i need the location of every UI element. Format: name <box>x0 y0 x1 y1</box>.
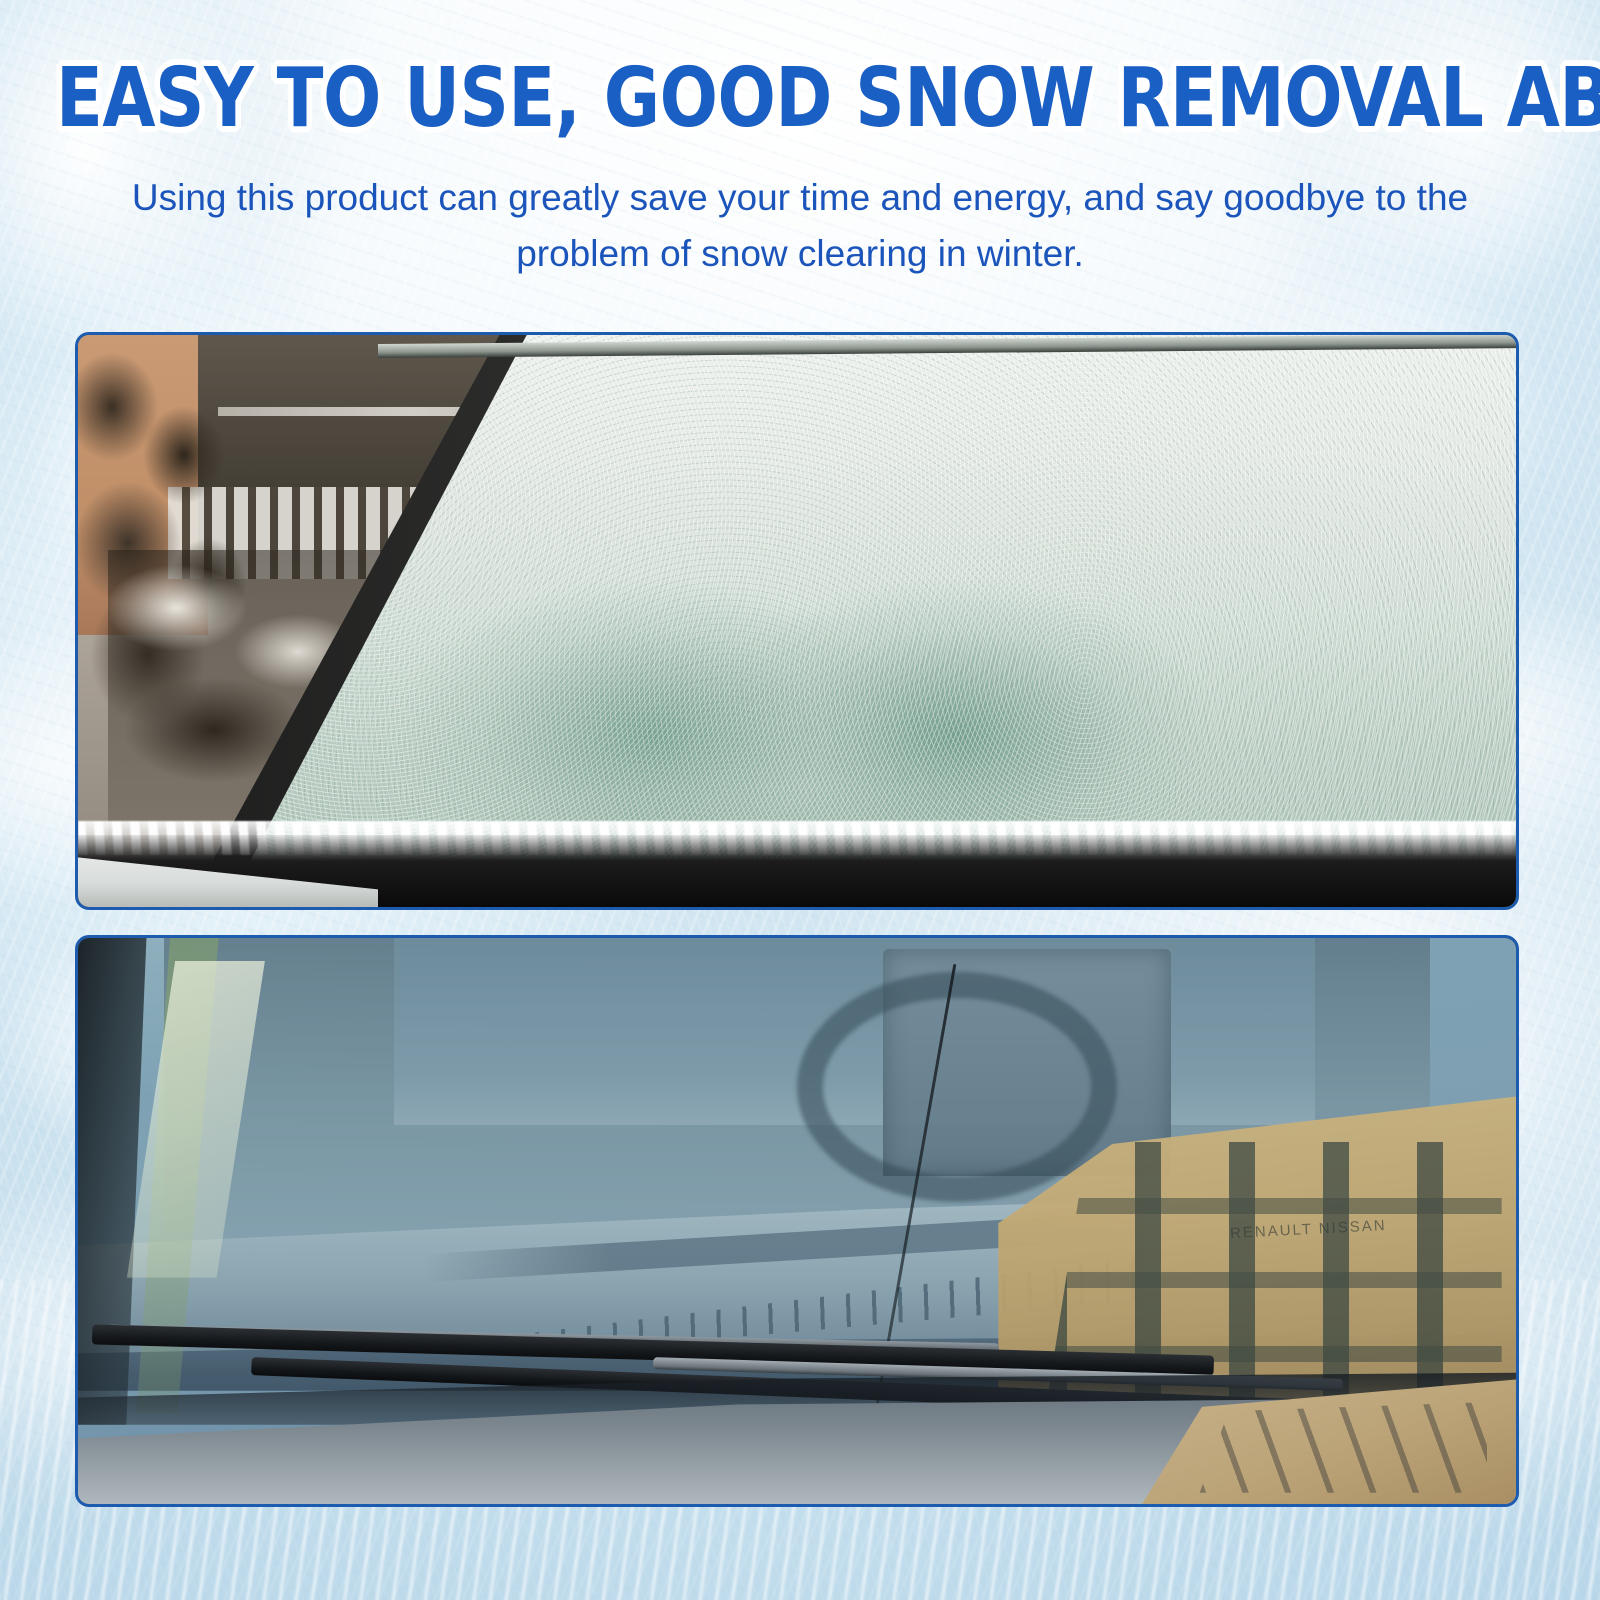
header: EASY TO USE, GOOD SNOW REMOVAL ABILITY U… <box>0 56 1600 282</box>
page-subtitle-line-1: Using this product can greatly save your… <box>132 177 1468 218</box>
promo-page: EASY TO USE, GOOD SNOW REMOVAL ABILITY U… <box>0 0 1600 1600</box>
page-subtitle: Using this product can greatly save your… <box>85 170 1515 282</box>
photo-steering-wheel <box>797 972 1117 1202</box>
photo-clear-windshield: RENAULT NISSAN <box>78 938 1516 1504</box>
photo-frosted-windshield <box>78 335 1516 907</box>
page-subtitle-line-2: problem of snow clearing in winter. <box>516 233 1084 274</box>
panel-before: Before use: Ice on the glass affects the… <box>75 332 1519 910</box>
photo-cardboard-marks <box>1200 1402 1488 1493</box>
page-title: EASY TO USE, GOOD SNOW REMOVAL ABILITY <box>56 56 1544 142</box>
panel-after: RENAULT NISSAN After spraying: Ice and s… <box>75 935 1519 1507</box>
